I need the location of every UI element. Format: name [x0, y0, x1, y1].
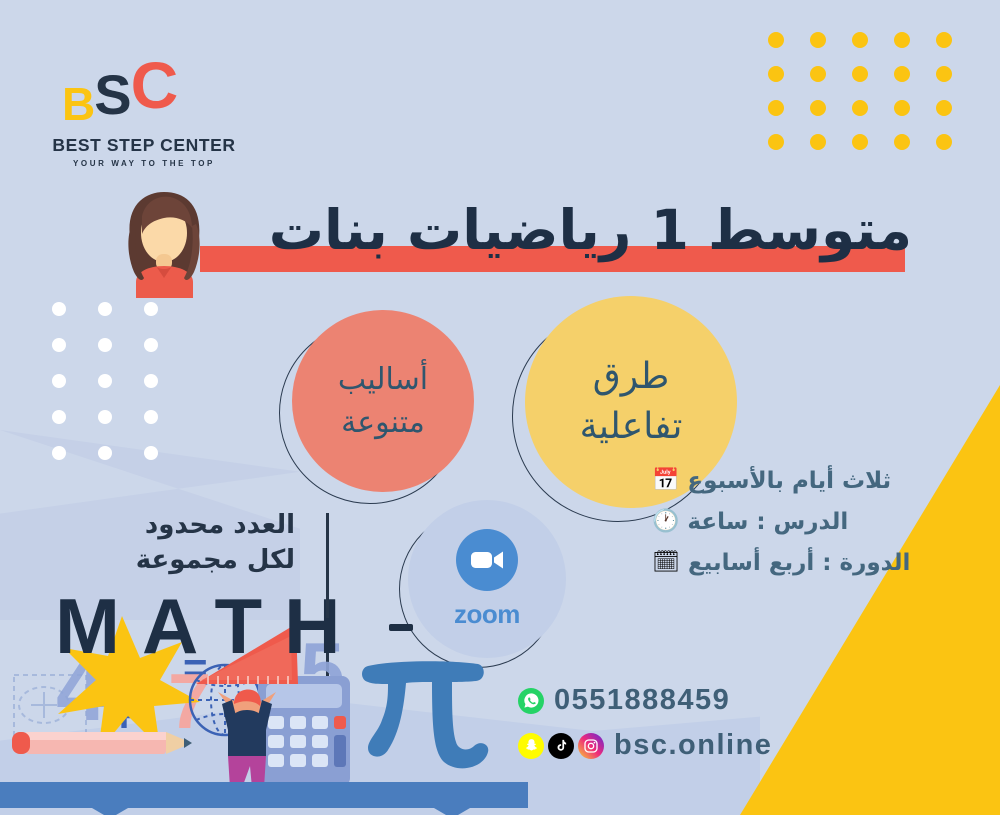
feature-label-line1: طرق — [580, 352, 683, 402]
dot — [936, 32, 952, 48]
dot — [894, 66, 910, 82]
pi-symbol — [362, 661, 488, 768]
dot — [98, 374, 112, 388]
logo-letter-b: B — [62, 78, 94, 130]
feature-label-line2: تفاعلية — [580, 402, 683, 452]
shelf-leg — [92, 808, 128, 815]
dot — [894, 32, 910, 48]
instagram-glyph — [583, 738, 599, 754]
schedule-item-lesson: 🕐 الدرس : ساعة — [652, 509, 982, 535]
camera-glyph — [470, 549, 504, 571]
page-title: متوسط 1 رياضيات بنات — [192, 196, 912, 265]
dot — [852, 134, 868, 150]
dot — [98, 302, 112, 316]
calendar-icon: 📅 — [652, 470, 679, 492]
schedule-text-lesson: الدرس : ساعة — [687, 509, 848, 535]
dot — [144, 410, 158, 424]
dot-grid-white — [52, 302, 190, 482]
feature-label-line1: أساليب — [338, 358, 428, 402]
dot-grid-yellow — [768, 32, 978, 168]
dot — [810, 100, 826, 116]
dot — [52, 374, 66, 388]
dot — [810, 66, 826, 82]
dot — [810, 32, 826, 48]
dot — [98, 410, 112, 424]
dot — [894, 100, 910, 116]
limited-seats-note: العدد محدود لكل مجموعة — [60, 508, 295, 578]
dot — [852, 100, 868, 116]
dot — [852, 32, 868, 48]
feature-circle-varied-methods: أساليب متنوعة — [292, 310, 474, 492]
limited-seats-line2: لكل مجموعة — [60, 543, 295, 578]
course-promo-poster: BSC BEST STEP CENTER YOUR WAY TO THE TOP… — [0, 0, 1000, 815]
minus-symbol — [388, 620, 414, 634]
math-wordmark: MATH — [55, 587, 363, 665]
contact-handle: bsc.online — [614, 729, 772, 762]
dot — [52, 446, 66, 460]
dot — [98, 446, 112, 460]
feature-label-line2: متنوعة — [338, 401, 428, 445]
dot — [810, 134, 826, 150]
logo-letter-c: C — [131, 48, 178, 122]
pencil-icon — [12, 732, 192, 754]
dot — [52, 302, 66, 316]
contact-phone-number: 0551888459 — [554, 684, 730, 717]
dot — [894, 134, 910, 150]
dot — [768, 32, 784, 48]
limited-seats-line1: العدد محدود — [60, 508, 295, 543]
dot — [936, 66, 952, 82]
schedule-item-course: 🗓 الدورة : أربع أسابيع — [652, 550, 982, 576]
dot — [52, 410, 66, 424]
hanger-line — [326, 568, 329, 618]
schedule-text-course: الدورة : أربع أسابيع — [688, 550, 911, 576]
calendar-clock-icon: 🗓 — [652, 552, 680, 574]
brand-tagline: YOUR WAY TO THE TOP — [44, 159, 244, 168]
shelf-surface — [0, 782, 528, 808]
calculator-icon — [258, 676, 350, 786]
dot — [936, 134, 952, 150]
dot — [98, 338, 112, 352]
headline-block: متوسط 1 رياضيات بنات — [200, 196, 920, 292]
dot — [852, 66, 868, 82]
dot — [144, 338, 158, 352]
dot — [768, 134, 784, 150]
schedule-text-days: ثلاث أيام بالأسبوع — [687, 468, 891, 494]
clock-icon: 🕐 — [652, 511, 679, 533]
dot — [52, 338, 66, 352]
dot — [768, 100, 784, 116]
yellow-corner-triangle — [740, 385, 1000, 815]
dot — [144, 446, 158, 460]
schedule-item-days: 📅 ثلاث أيام بالأسبوع — [652, 468, 982, 494]
dot — [144, 302, 158, 316]
instagram-icon[interactable] — [578, 733, 604, 759]
brand-name: BEST STEP CENTER — [44, 135, 244, 156]
dot — [936, 100, 952, 116]
shelf-leg — [434, 808, 470, 815]
brand-logo: BSC BEST STEP CENTER YOUR WAY TO THE TOP — [44, 52, 244, 168]
logo-lettermark: BSC — [44, 52, 244, 127]
dot — [144, 374, 158, 388]
logo-letter-s: S — [94, 63, 130, 126]
dot — [768, 66, 784, 82]
schedule-info-list: 📅 ثلاث أيام بالأسبوع 🕐 الدرس : ساعة 🗓 ال… — [652, 468, 982, 591]
